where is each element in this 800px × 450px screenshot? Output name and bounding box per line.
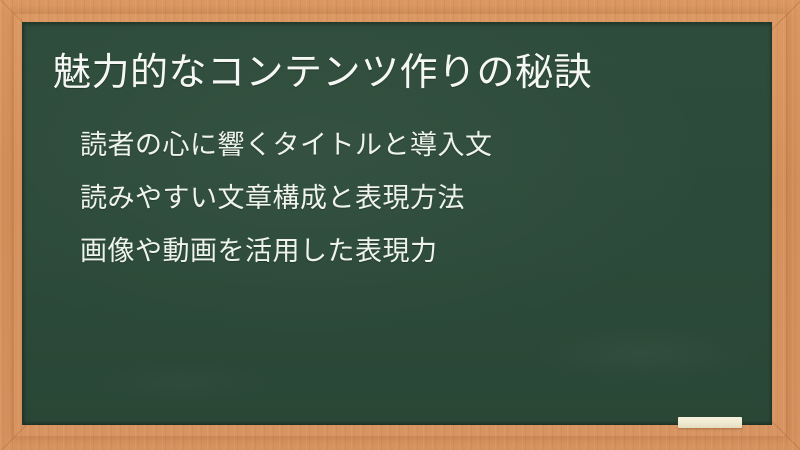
chalkboard-slide: 魅力的なコンテンツ作りの秘訣 読者の心に響くタイトルと導入文 読みやすい文章構成… (0, 0, 800, 450)
slide-title: 魅力的なコンテンツ作りの秘訣 (53, 47, 592, 97)
frame-corner-top-right (768, 0, 800, 32)
bullet-item-2: 読みやすい文章構成と表現方法 (58, 172, 748, 225)
bullet-item-3: 画像や動画を活用した表現力 (58, 225, 748, 278)
bullet-list: 読者の心に響くタイトルと導入文 読みやすい文章構成と表現方法 画像や動画を活用し… (58, 119, 748, 278)
chalk-stick-icon (678, 417, 742, 428)
frame-corner-bottom-right (768, 418, 800, 450)
blackboard-surface: 魅力的なコンテンツ作りの秘訣 読者の心に響くタイトルと導入文 読みやすい文章構成… (22, 22, 772, 425)
bullet-item-1: 読者の心に響くタイトルと導入文 (58, 119, 748, 172)
